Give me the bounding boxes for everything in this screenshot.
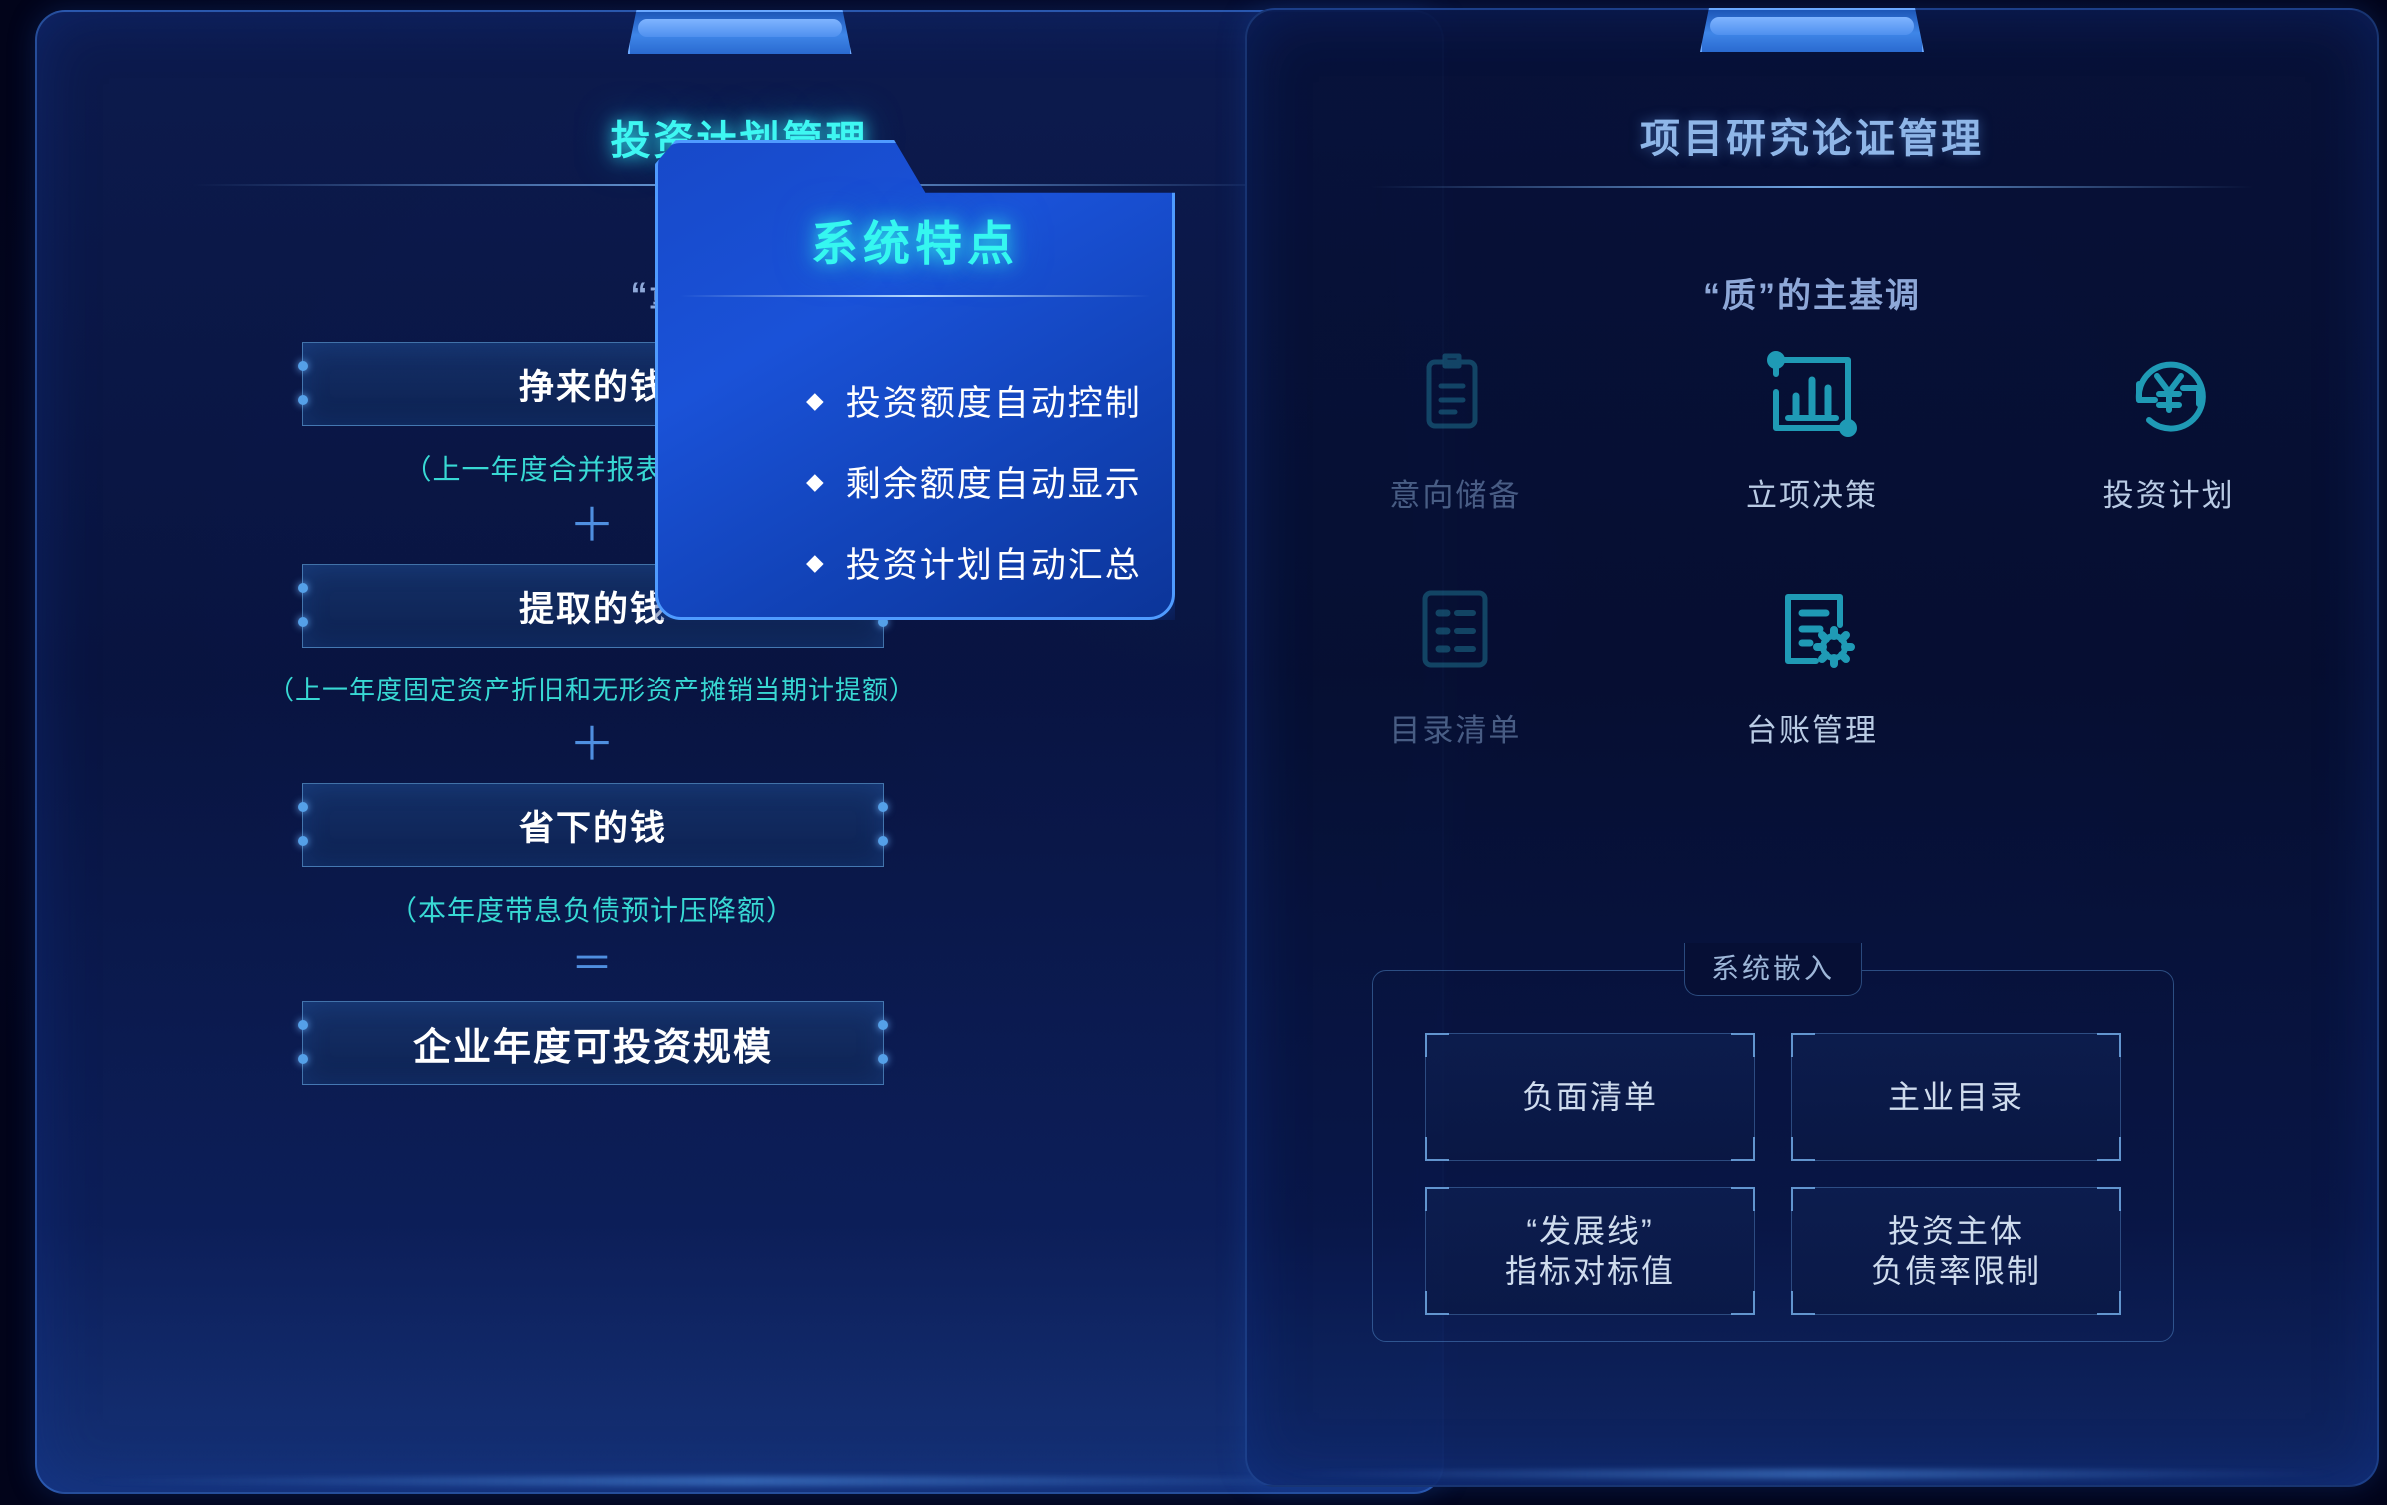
flow-box-label: 企业年度可投资规模	[413, 1016, 773, 1071]
embed-cell-main-business-catalog[interactable]: 主业目录	[1791, 1033, 2121, 1161]
list-item-label: 剩余额度自动显示	[846, 456, 1142, 507]
right-panel-title: 项目研究论证管理	[1247, 106, 2377, 164]
diamond-bullet-icon: ◆	[806, 551, 824, 574]
system-features-popup-card[interactable]: 系统特点 ◆ 投资额度自动控制 ◆ 剩余额度自动显示 ◆ 投资计划自动汇总	[655, 140, 1175, 620]
clipboard-document-icon	[1401, 340, 1509, 448]
embed-cell-development-line-benchmark[interactable]: “发展线” 指标对标值	[1425, 1187, 1755, 1315]
list-item-label: 投资额度自动控制	[846, 375, 1142, 426]
icon-label: 台账管理	[1746, 705, 1878, 750]
popup-title: 系统特点	[658, 205, 1172, 274]
embed-cell-label: 主业目录	[1888, 1077, 2024, 1117]
system-embed-group: 系统嵌入 负面清单 主业目录 “发展线” 指标对标值	[1372, 970, 2174, 1342]
icon-cell-investment-plan[interactable]: 投资计划	[1990, 340, 2347, 515]
yen-circle-refresh-icon	[2115, 340, 2223, 448]
embed-cell-label-line1: 投资主体	[1888, 1213, 2024, 1249]
diamond-bullet-icon: ◆	[806, 389, 824, 412]
embed-cell-label-line2: 负债率限制	[1871, 1253, 2041, 1289]
embed-cell-label: 负面清单	[1522, 1077, 1658, 1117]
icon-label: 立项决策	[1746, 470, 1878, 515]
icon-cell-empty	[1990, 575, 2347, 750]
right-panel-icon-grid: 意向储备	[1277, 340, 2347, 750]
right-panel-subtitle: “质”的主基调	[1247, 268, 2377, 317]
right-panel-project-research: 项目研究论证管理 “质”的主基调 意向储备	[1245, 8, 2379, 1487]
icon-cell-project-approval-decision[interactable]: 立项决策	[1634, 340, 1991, 515]
icon-label: 目录清单	[1389, 705, 1521, 750]
checklist-icon	[1401, 575, 1509, 683]
flow-note-saved-money: （本年度带息负债预计压降额）	[302, 889, 882, 929]
list-item: ◆ 剩余额度自动显示	[658, 456, 1172, 507]
icon-label: 意向储备	[1389, 470, 1521, 515]
document-gear-icon	[1758, 575, 1866, 683]
embed-cell-investor-debt-ratio-limit[interactable]: 投资主体 负债率限制	[1791, 1187, 2121, 1315]
flow-box-annual-investable-scale[interactable]: 企业年度可投资规模	[302, 1001, 884, 1085]
left-panel-folder-tab	[628, 10, 852, 54]
embed-cell-negative-list[interactable]: 负面清单	[1425, 1033, 1755, 1161]
flow-operator-equals: ＝	[302, 943, 882, 985]
embed-cell-label-line2: 指标对标值	[1505, 1253, 1675, 1289]
diamond-bullet-icon: ◆	[806, 470, 824, 493]
embed-cell-label-line1: “发展线”	[1526, 1213, 1653, 1249]
icon-cell-catalog-list[interactable]: 目录清单	[1277, 575, 1634, 750]
flow-note-extracted-money: （上一年度固定资产折旧和无形资产摊销当期计提额）	[190, 670, 994, 707]
list-item: ◆ 投资计划自动汇总	[658, 537, 1172, 588]
flow-box-label: 挣来的钱	[519, 359, 667, 410]
system-embed-legend: 系统嵌入	[1684, 943, 1862, 996]
right-panel-divider	[1371, 186, 2252, 188]
popup-divider	[680, 295, 1150, 297]
list-item-label: 投资计划自动汇总	[846, 537, 1142, 588]
flow-box-saved-money[interactable]: 省下的钱	[302, 783, 884, 867]
flow-box-label: 提取的钱	[519, 581, 667, 632]
icon-cell-intent-reserve[interactable]: 意向储备	[1277, 340, 1634, 515]
flow-box-label: 省下的钱	[519, 800, 667, 851]
icon-cell-ledger-management[interactable]: 台账管理	[1634, 575, 1991, 750]
icon-label: 投资计划	[2103, 470, 2235, 515]
right-panel-folder-tab	[1700, 8, 1924, 52]
list-item: ◆ 投资额度自动控制	[658, 375, 1172, 426]
popup-feature-list: ◆ 投资额度自动控制 ◆ 剩余额度自动显示 ◆ 投资计划自动汇总	[658, 375, 1172, 618]
slide-canvas: 投资计划管理 “量”的高标准 挣来的钱 （上一年度合并报表净利润） ＋ 提取的钱…	[0, 0, 2387, 1505]
bar-chart-frame-icon	[1758, 340, 1866, 448]
flow-operator-plus-2: ＋	[302, 721, 882, 767]
